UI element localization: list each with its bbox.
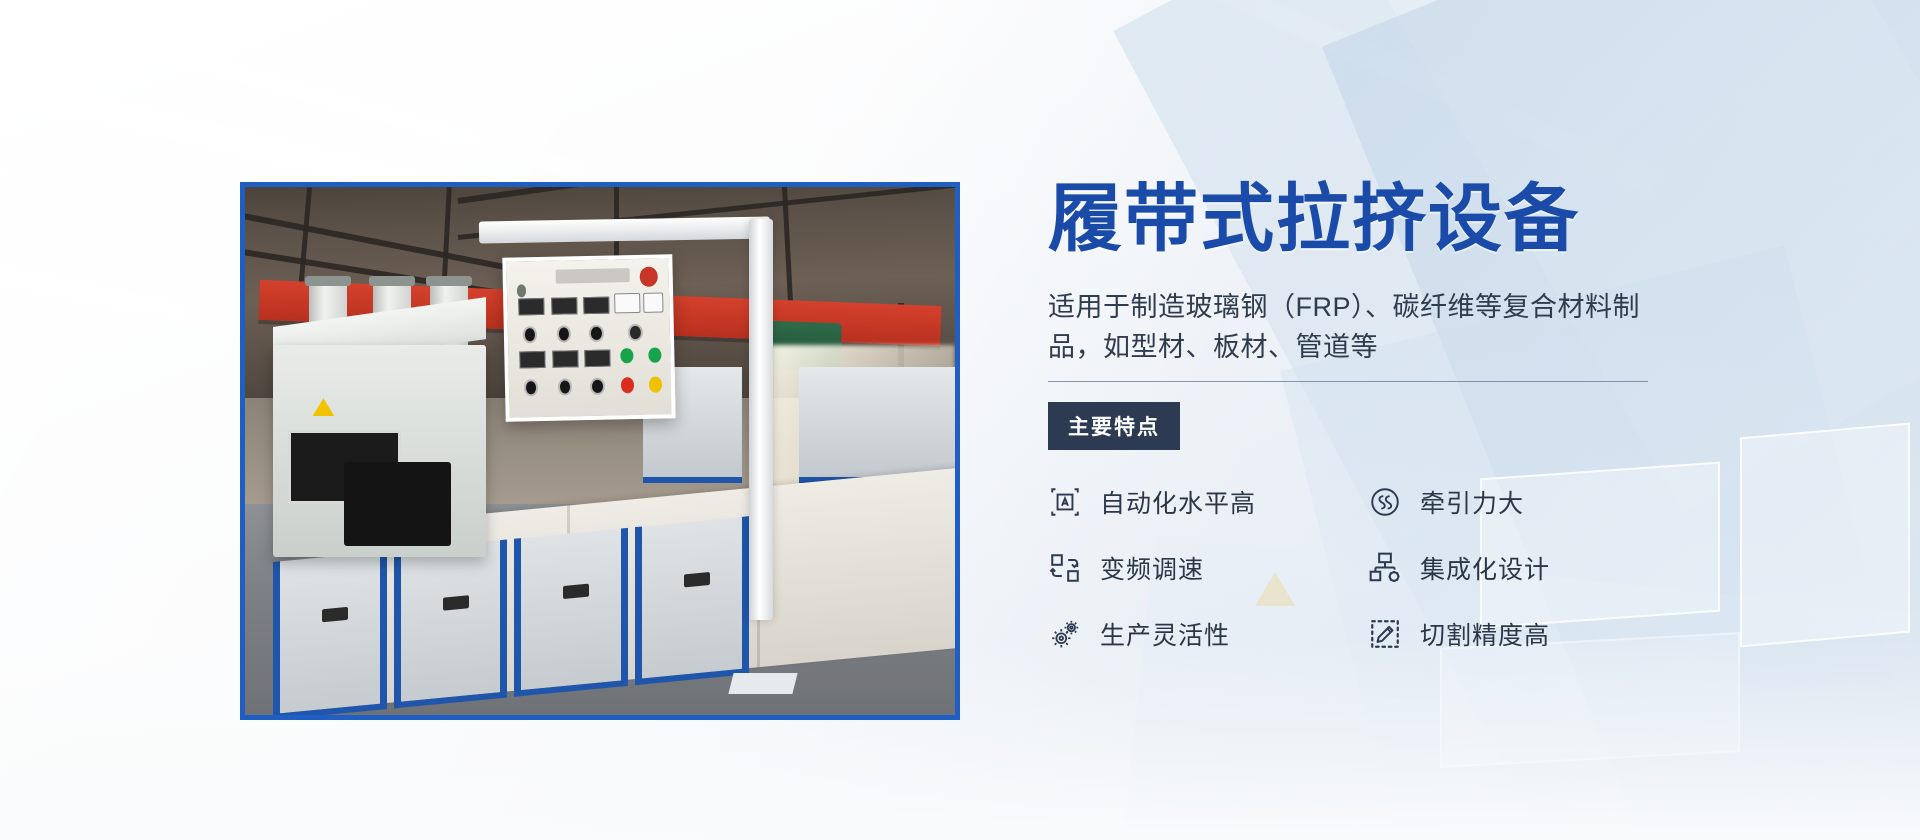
banner-title: 履带式拉挤设备 <box>1048 180 1688 258</box>
gears-icon <box>1048 617 1082 651</box>
photo-machine-opening <box>344 462 451 546</box>
precision-pen-icon <box>1368 617 1402 651</box>
integrated-design-icon <box>1368 551 1402 585</box>
banner-text-block: 履带式拉挤设备 适用于制造玻璃钢（FRP）、碳纤维等复合材料制品，如型材、板材、… <box>1048 180 1688 652</box>
feature-item[interactable]: 变频调速 <box>1048 550 1368 586</box>
frequency-convert-icon <box>1048 551 1082 585</box>
feature-label: 自动化水平高 <box>1100 484 1256 520</box>
feature-label: 切割精度高 <box>1420 616 1550 652</box>
letter-a-box-icon <box>1048 485 1082 519</box>
traction-circle-icon <box>1368 485 1402 519</box>
product-photo <box>245 187 955 715</box>
feature-label: 牵引力大 <box>1420 484 1524 520</box>
feature-item[interactable]: 切割精度高 <box>1368 616 1688 652</box>
feature-label: 变频调速 <box>1100 550 1204 586</box>
features-badge: 主要特点 <box>1048 402 1180 450</box>
feature-item[interactable]: 集成化设计 <box>1368 550 1688 586</box>
feature-item[interactable]: 牵引力大 <box>1368 484 1688 520</box>
product-photo-frame <box>240 182 960 720</box>
photo-machine-right <box>799 367 898 483</box>
photo-machine-right <box>898 367 960 483</box>
photo-gantry-post <box>749 219 773 620</box>
feature-item[interactable]: 自动化水平高 <box>1048 484 1368 520</box>
divider <box>1048 381 1648 382</box>
photo-gantry-foot <box>729 673 798 694</box>
feature-label: 集成化设计 <box>1420 550 1550 586</box>
photo-control-panel <box>502 254 676 421</box>
feature-item[interactable]: 生产灵活性 <box>1048 616 1368 652</box>
feature-label: 生产灵活性 <box>1100 616 1230 652</box>
features-grid: 自动化水平高 牵引力大 <box>1048 484 1688 652</box>
banner-description: 适用于制造玻璃钢（FRP）、碳纤维等复合材料制品，如型材、板材、管道等 <box>1048 288 1648 367</box>
